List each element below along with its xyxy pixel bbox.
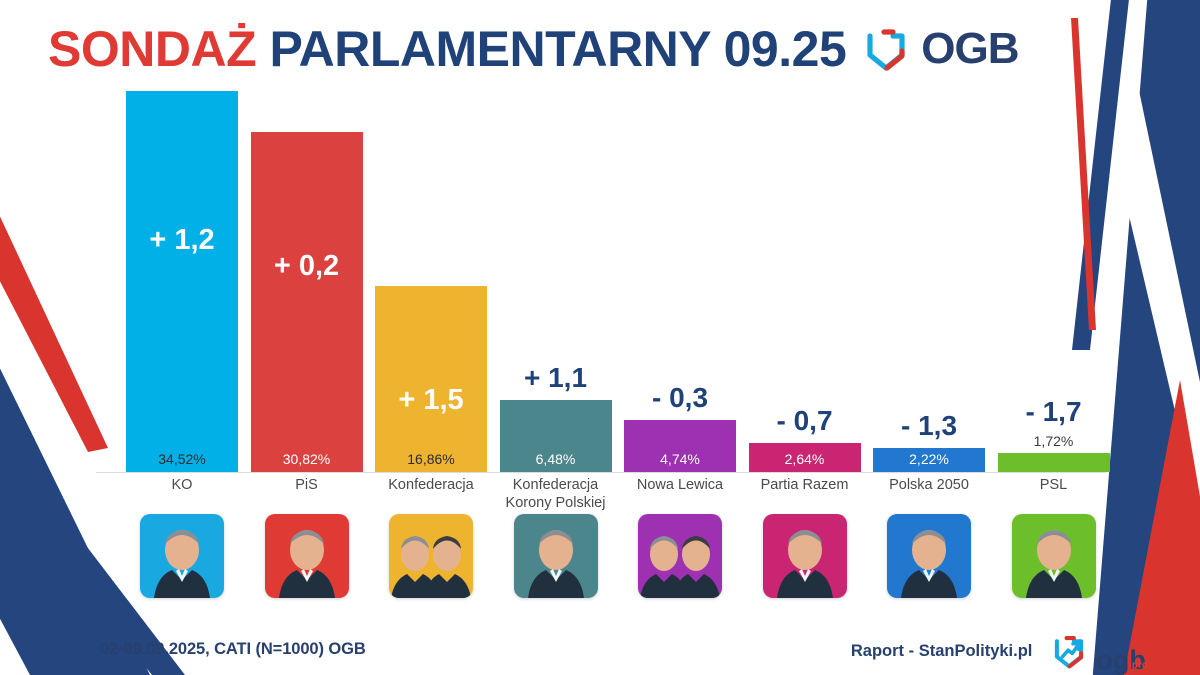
x-axis-label-line: Korony Polskiej <box>486 494 626 512</box>
bar-change-label: - 0,7 <box>776 407 832 435</box>
bar-pis: + 0,230,82% <box>251 132 363 472</box>
bar-psl <box>998 453 1110 472</box>
portrait-holownia <box>887 514 971 598</box>
bar-column-partia-razem: - 0,72,64% <box>749 80 861 472</box>
bar-value-label: 1,72% <box>1034 434 1074 448</box>
x-axis-label-polska-2050: Polska 2050 <box>859 476 999 494</box>
bar-change-label: - 0,3 <box>652 384 708 412</box>
bar-nowa-lewica: 4,74% <box>624 420 736 472</box>
portrait-kosiniak <box>1012 514 1096 598</box>
x-axis-label-partia-razem: Partia Razem <box>735 476 875 494</box>
bar-change-label: - 1,3 <box>901 412 957 440</box>
portrait-kaczynski <box>265 514 349 598</box>
ogb-shield-icon <box>860 23 912 75</box>
bar-column-psl: - 1,71,72% <box>998 80 1110 472</box>
bar-kkp: 6,48% <box>500 400 612 472</box>
bar-column-polska-2050: - 1,32,22% <box>873 80 985 472</box>
portrait-graphic <box>140 514 224 598</box>
title-part-rest: PARLAMENTARNY 09.25 <box>270 21 847 77</box>
portrait-zandberg <box>763 514 847 598</box>
ogb-pro-logo: ogb pro <box>1048 630 1148 672</box>
survey-method-note: 02-09.09.2025, CATI (N=1000) OGB <box>100 640 366 659</box>
bar-value-label: 16,86% <box>407 452 454 472</box>
x-axis-label-psl: PSL <box>984 476 1124 494</box>
ogb-pro-suffix: pro <box>1132 661 1148 671</box>
portrait-graphic <box>265 514 349 598</box>
portrait-graphic <box>887 514 971 598</box>
x-axis-label-line: Partia Razem <box>735 476 875 494</box>
x-axis-label-line: Nowa Lewica <box>610 476 750 494</box>
portrait-mentzen-bosak <box>389 514 473 598</box>
bar-value-label: 34,52% <box>158 452 205 472</box>
x-axis-label-kkp: KonfederacjaKorony Polskiej <box>486 476 626 512</box>
bar-change-label: + 1,2 <box>126 226 238 255</box>
bar-column-ko: + 1,234,52% <box>126 80 238 472</box>
bar-value-label: 4,74% <box>660 452 700 472</box>
x-axis-label-line: KO <box>112 476 252 494</box>
portrait-braun <box>514 514 598 598</box>
bar-value-label: 2,64% <box>785 452 825 472</box>
bar-konfederacja: + 1,516,86% <box>375 286 487 472</box>
portrait-czarzasty-biedron <box>638 514 722 598</box>
portrait-graphic <box>514 514 598 598</box>
x-axis-label-konfederacja: Konfederacja <box>361 476 501 494</box>
chart-baseline <box>96 472 1106 473</box>
portrait-graphic <box>389 514 473 598</box>
x-axis-label-line: Konfederacja <box>361 476 501 494</box>
portrait-graphic <box>638 514 722 598</box>
portrait-graphic <box>1012 514 1096 598</box>
x-axis-label-pis: PiS <box>237 476 377 494</box>
bar-change-label: + 0,2 <box>251 252 363 281</box>
bar-change-label: + 1,5 <box>375 386 487 415</box>
page-header: SONDAŻ PARLAMENTARNY 09.25 OGB <box>0 18 1200 80</box>
bar-value-label: 30,82% <box>283 452 330 472</box>
bar-ko: + 1,234,52% <box>126 91 238 472</box>
bar-change-label: + 1,1 <box>524 364 587 392</box>
x-axis-label-nowa-lewica: Nowa Lewica <box>610 476 750 494</box>
bar-value-label: 6,48% <box>536 452 576 472</box>
x-axis-label-line: Polska 2050 <box>859 476 999 494</box>
title-part-sondaz: SONDAŻ <box>48 21 256 77</box>
bar-value-label: 2,22% <box>909 452 949 472</box>
bar-change-label: - 1,7 <box>1025 398 1081 426</box>
x-axis-label-line: PSL <box>984 476 1124 494</box>
page-title: SONDAŻ PARLAMENTARNY 09.25 <box>48 24 846 74</box>
ogb-logo: OGB <box>860 23 1018 75</box>
report-link-text[interactable]: Raport - StanPolityki.pl <box>851 642 1033 661</box>
x-axis-label-ko: KO <box>112 476 252 494</box>
bar-column-kkp: + 1,16,48% <box>500 80 612 472</box>
bar-polska-2050: 2,22% <box>873 448 985 473</box>
x-axis-label-line: Konfederacja <box>486 476 626 494</box>
x-axis-label-line: PiS <box>237 476 377 494</box>
bar-partia-razem: 2,64% <box>749 443 861 472</box>
party-leader-portraits <box>0 514 1200 600</box>
footer-credit: Raport - StanPolityki.pl ogb pro <box>851 630 1148 672</box>
portrait-tusk <box>140 514 224 598</box>
bar-column-konfederacja: + 1,516,86% <box>375 80 487 472</box>
bar-column-pis: + 0,230,82% <box>251 80 363 472</box>
bar-column-nowa-lewica: - 0,34,74% <box>624 80 736 472</box>
ogb-pro-shield-icon <box>1048 630 1090 672</box>
ogb-wordmark: OGB <box>921 24 1018 74</box>
poll-bar-chart: + 1,234,52%+ 0,230,82%+ 1,516,86%+ 1,16,… <box>0 80 1200 500</box>
portrait-graphic <box>763 514 847 598</box>
